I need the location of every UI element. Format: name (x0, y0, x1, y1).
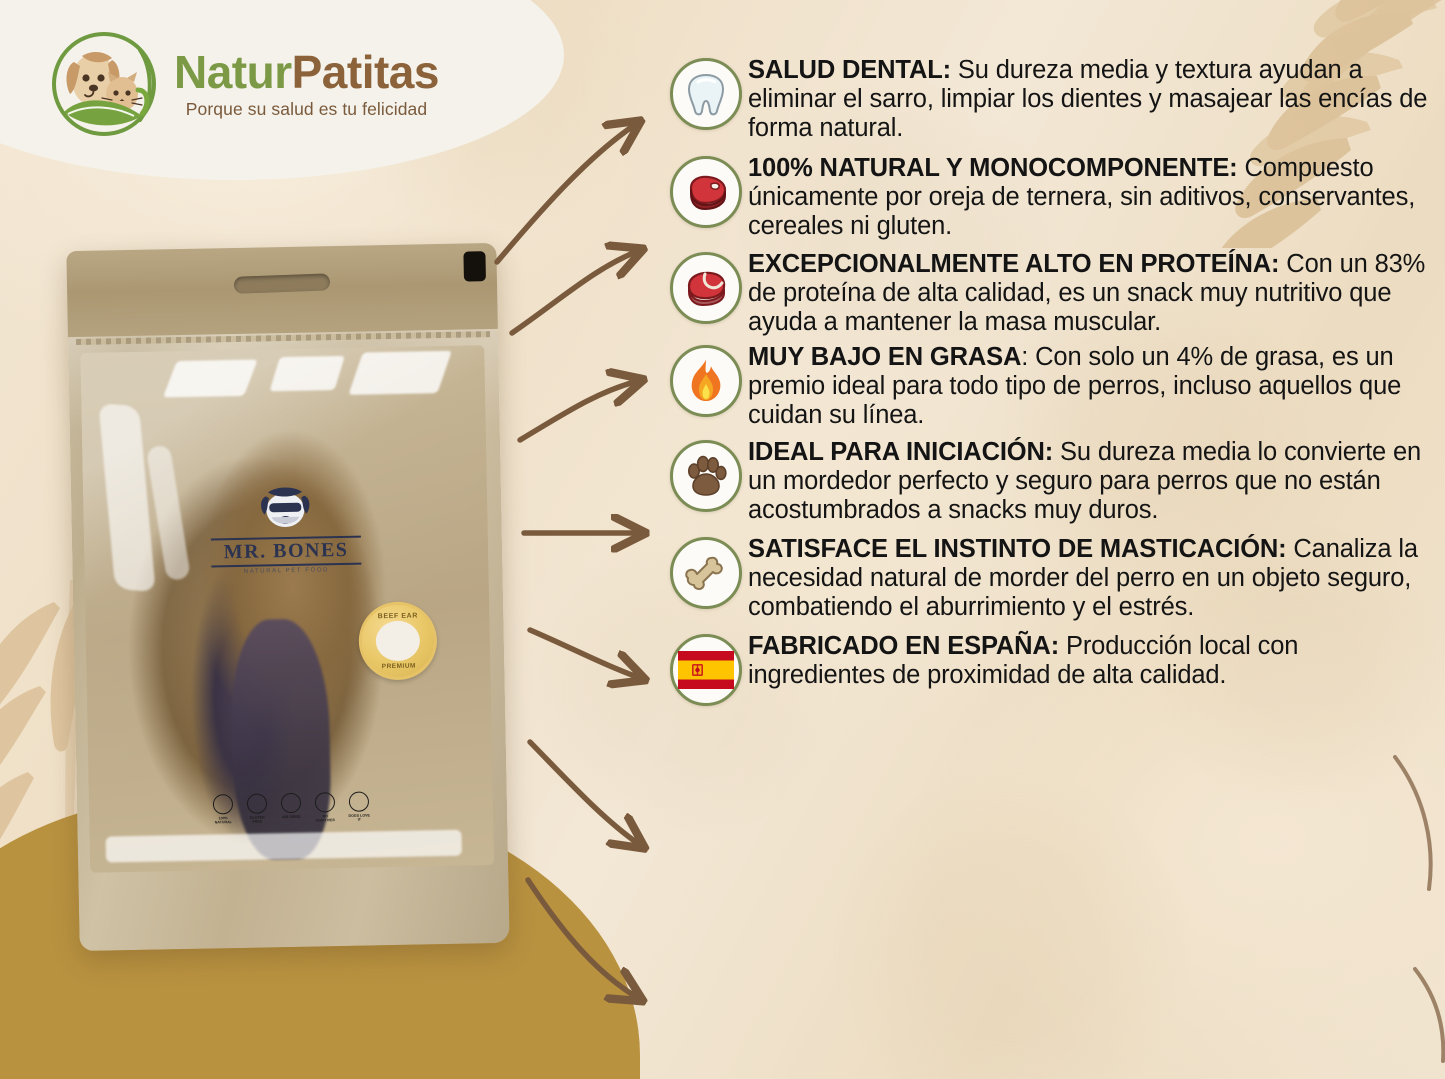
feature-title: IDEAL PARA INICIACIÓN: (748, 438, 1053, 466)
feature-icon-circle (670, 58, 742, 130)
feature-text: MUY BAJO EN GRASA: Con solo un 4% de gra… (748, 341, 1445, 430)
package-pictogram: 100% NATURAL (212, 794, 235, 824)
badge-bottom-label: PREMIUM (363, 662, 435, 670)
feature-item-100-natural: 100% NATURAL Y MONOCOMPONENTE: Compuesto… (664, 152, 1445, 241)
paw-icon (684, 454, 728, 498)
feature-title: SATISFACE EL INSTINTO DE MASTICACIÓN: (748, 535, 1286, 563)
spain-flag-icon (678, 651, 734, 689)
feature-icon-circle (670, 537, 742, 609)
feature-icon-circle (670, 156, 742, 228)
air-dried-icon (281, 793, 301, 813)
feature-icon-wrap (664, 341, 748, 417)
package-pictogram: GLUTEN FREE (246, 794, 269, 824)
feature-icon-circle (670, 634, 742, 706)
feature-item-alto-proteina: EXCEPCIONALMENTE ALTO EN PROTEÍNA: Con u… (664, 248, 1445, 337)
feature-title: SALUD DENTAL: (748, 56, 951, 84)
package-pictogram: DOGS LOVE IT (348, 792, 371, 822)
feature-text: EXCEPCIONALMENTE ALTO EN PROTEÍNA: Con u… (748, 248, 1445, 337)
dog-cat-leaf-logo-icon (48, 28, 160, 140)
package-tear-notch (463, 251, 486, 281)
package-pictogram: NO ADDITIVES (314, 792, 337, 822)
feature-item-bajo-grasa: MUY BAJO EN GRASA: Con solo un 4% de gra… (664, 341, 1445, 430)
pictogram-label: AIR DRIED (280, 815, 302, 820)
badge-top-label: BEEF EAR (362, 612, 434, 620)
package-brand-name: MR. BONES (211, 536, 362, 568)
flame-icon (686, 358, 726, 404)
feature-icon-wrap (664, 630, 748, 706)
feature-icon-wrap (664, 152, 748, 228)
pictogram-label: NO ADDITIVES (314, 814, 336, 823)
feature-item-ideal-iniciacion: IDEAL PARA INICIACIÓN: Su dureza media l… (664, 436, 1445, 525)
badge-inner-graphic (376, 620, 421, 661)
pictogram-label: 100% NATURAL (212, 816, 234, 825)
sun-natural-icon (213, 794, 233, 814)
bone-icon (683, 550, 729, 596)
plastic-glare (348, 351, 451, 395)
feature-text: FABRICADO EN ESPAÑA: Producción local co… (748, 630, 1445, 690)
brand-tagline: Porque su salud es tu felicidad (174, 99, 439, 120)
feature-text: IDEAL PARA INICIACIÓN: Su dureza media l… (748, 436, 1445, 525)
plastic-glare (163, 360, 258, 398)
feature-title: MUY BAJO EN GRASA (748, 343, 1021, 371)
feature-icon-wrap (664, 248, 748, 324)
pictogram-label: GLUTEN FREE (246, 815, 268, 824)
feature-title: 100% NATURAL Y MONOCOMPONENTE: (748, 154, 1238, 182)
happy-face-icon (349, 792, 369, 812)
package-brandmark: MR. BONES NATURAL PET FOOD (210, 483, 362, 576)
package-hang-hole (234, 273, 331, 294)
package-window: MR. BONES NATURAL PET FOOD BEEF EAR PREM… (80, 345, 494, 873)
feature-list: SALUD DENTAL: Su dureza media y textura … (664, 54, 1445, 710)
no-additives-icon (315, 792, 335, 812)
beef-ear-badge: BEEF EAR PREMIUM (359, 601, 438, 680)
feature-text: SATISFACE EL INSTINTO DE MASTICACIÓN: Ca… (748, 533, 1445, 622)
steak-icon (683, 172, 729, 212)
feature-title: FABRICADO EN ESPAÑA: (748, 632, 1059, 660)
feature-item-salud-dental: SALUD DENTAL: Su dureza media y textura … (664, 54, 1445, 143)
brand-logo: NaturPatitas Porque su salud es tu felic… (48, 28, 439, 140)
gluten-free-icon (247, 794, 267, 814)
feature-text: 100% NATURAL Y MONOCOMPONENTE: Compuesto… (748, 152, 1445, 241)
feature-item-instinto-masticacion: SATISFACE EL INSTINTO DE MASTICACIÓN: Ca… (664, 533, 1445, 622)
feature-icon-circle (670, 440, 742, 512)
feature-icon-circle (670, 252, 742, 324)
feature-icon-wrap (664, 436, 748, 512)
brand-name-part2: Patitas (292, 46, 439, 98)
feature-icon-wrap (664, 533, 748, 609)
feature-icon-circle (670, 345, 742, 417)
plastic-glare (269, 356, 344, 391)
feature-title: EXCEPCIONALMENTE ALTO EN PROTEÍNA: (748, 250, 1279, 278)
feature-text: SALUD DENTAL: Su dureza media y textura … (748, 54, 1445, 143)
product-package-photo: MR. BONES NATURAL PET FOOD BEEF EAR PREM… (66, 243, 509, 951)
package-pictogram: AIR DRIED (280, 793, 303, 823)
decorative-arcs-bottom-right (1185, 749, 1445, 1079)
dog-with-sunglasses-icon (253, 484, 318, 531)
tooth-icon (686, 71, 726, 117)
feature-item-fabricado-espana: FABRICADO EN ESPAÑA: Producción local co… (664, 630, 1445, 706)
meat-cut-icon (683, 268, 729, 308)
feature-icon-wrap (664, 54, 748, 130)
pictogram-label: DOGS LOVE IT (348, 813, 370, 822)
brand-name-part1: Natur (174, 46, 292, 98)
